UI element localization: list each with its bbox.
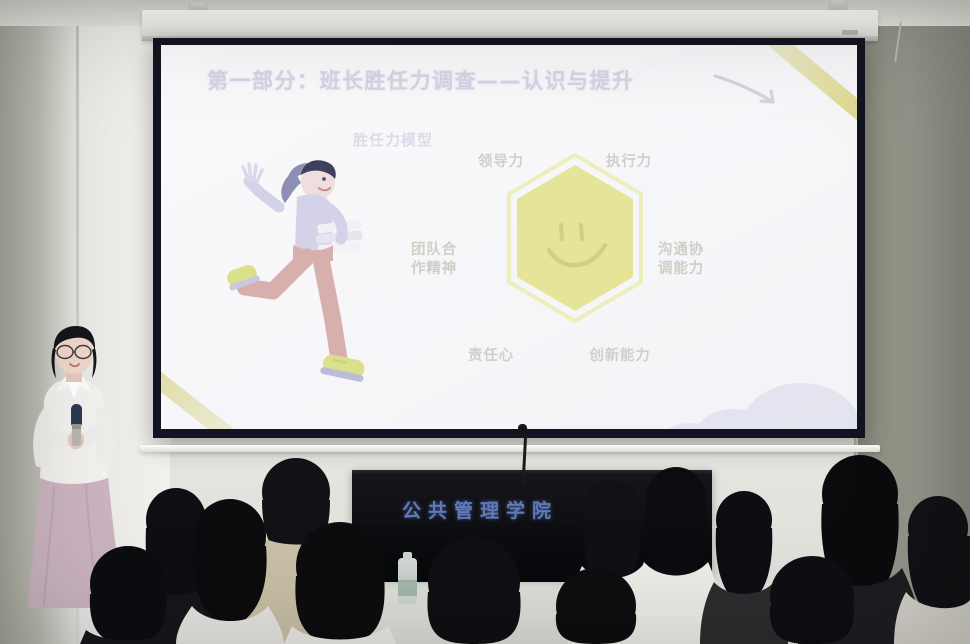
audience-group [0,0,970,644]
lecture-hall-scene: 第一部分：班长胜任力调查——认识与提升 胜任力模型 [0,0,970,644]
